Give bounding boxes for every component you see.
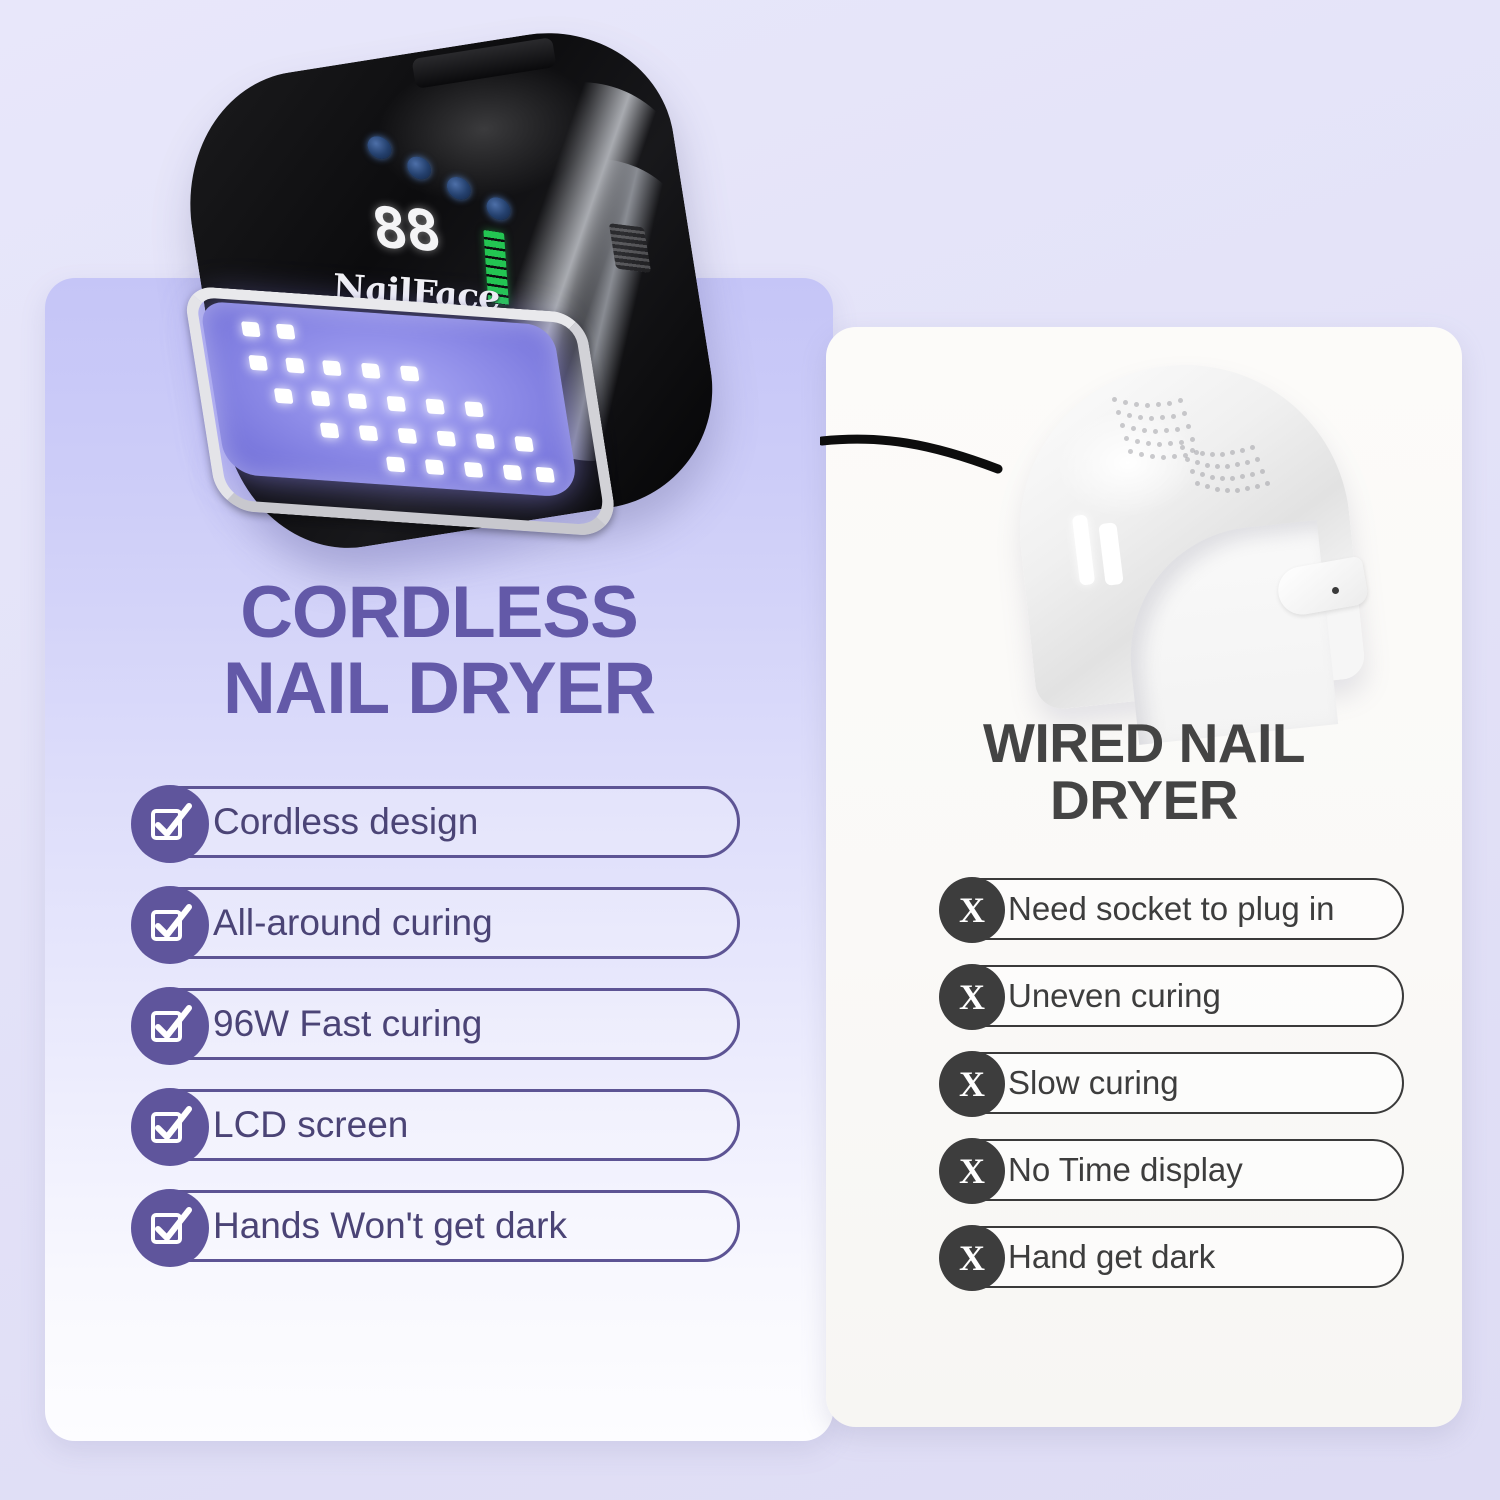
cordless-title-line-2: NAIL DRYER [45,651,833,727]
touch-button-1-icon[interactable] [366,135,393,159]
feature-pill-label: Need socket to plug in [1008,890,1335,928]
perforation-dot [1215,464,1220,469]
perforation-dot [1210,452,1215,457]
perforation-dot [1220,476,1225,481]
perforation-dot [1245,460,1250,465]
feature-pill[interactable]: XHand get dark [940,1226,1404,1288]
perforation-dot [1195,481,1200,486]
feature-pill-label: Hands Won't get dark [213,1205,567,1247]
check-icon [131,886,209,964]
perforation-dot [1124,436,1129,441]
feature-pill-label: 96W Fast curing [213,1003,482,1045]
feature-pill[interactable]: LCD screen [132,1089,740,1161]
perforation-dot [1161,455,1166,460]
feature-pill[interactable]: XUneven curing [940,965,1404,1027]
perforation-dot [1255,484,1260,489]
check-icon [131,1189,209,1267]
perforation-dot [1145,403,1150,408]
perforation-dot [1182,411,1187,416]
feature-pill-label: Slow curing [1008,1064,1179,1102]
wired-title-line-2: DRYER [826,772,1462,829]
perforation-dot [1178,398,1183,403]
perforation-dot [1179,440,1184,445]
cordless-feature-list: Cordless designAll-around curing96W Fast… [132,786,740,1262]
lcd-timer-value: 88 [368,200,443,261]
perforation-dot [1185,457,1190,462]
touch-button-2-icon[interactable] [406,156,433,180]
perforation-dot [1123,400,1128,405]
feature-pill[interactable]: XNeed socket to plug in [940,878,1404,940]
x-icon: X [939,1138,1005,1204]
feature-pill-label: Hand get dark [1008,1238,1215,1276]
perforation-dot [1153,429,1158,434]
feature-pill-label: No Time display [1008,1151,1243,1189]
check-icon [131,785,209,863]
cordless-dryer-chrome-rim [183,285,620,537]
comparison-infographic: 88 NailFace CORDLESS NAIL DRYER WIRED NA… [0,0,1500,1500]
perforation-dot [1190,469,1195,474]
perforation-dot [1255,457,1260,462]
perforation-dot [1210,475,1215,480]
wired-nail-dryer-photo [880,345,1440,725]
check-icon [131,987,209,1065]
perforation-dot [1230,476,1235,481]
perforation-dot [1157,442,1162,447]
feature-pill[interactable]: Cordless design [132,786,740,858]
perforation-dot [1200,451,1205,456]
perforation-dot [1225,488,1230,493]
perforation-dot [1220,452,1225,457]
perforation-dot [1139,452,1144,457]
perforation-dot [1116,410,1121,415]
feature-pill[interactable]: Hands Won't get dark [132,1190,740,1262]
feature-pill-label: Cordless design [213,801,478,843]
feature-pill-label: Uneven curing [1008,977,1221,1015]
touch-button-4-icon[interactable] [485,197,512,221]
perforation-dot [1265,481,1270,486]
perforation-dot [1235,488,1240,493]
perforation-dot [1180,445,1185,450]
cordless-nail-dryer-photo: 88 NailFace [185,40,715,585]
perforation-dot [1149,416,1154,421]
check-icon [131,1088,209,1166]
perforation-dot [1205,463,1210,468]
perforation-dot [1127,413,1132,418]
perforation-dot [1190,437,1195,442]
feature-pill[interactable]: XSlow curing [940,1052,1404,1114]
feature-pill[interactable]: All-around curing [132,887,740,959]
wired-title-line-1: WIRED NAIL [826,715,1462,772]
perforation-dot [1135,439,1140,444]
perforation-dot [1175,427,1180,432]
feature-pill[interactable]: 96W Fast curing [132,988,740,1060]
perforation-dot [1167,401,1172,406]
feature-pill-label: LCD screen [213,1104,408,1146]
perforation-dot [1215,487,1220,492]
x-icon: X [939,964,1005,1030]
x-icon: X [939,1051,1005,1117]
x-icon: X [939,877,1005,943]
perforation-dot [1250,445,1255,450]
perforation-dot [1171,414,1176,419]
feature-pill[interactable]: XNo Time display [940,1139,1404,1201]
wired-dryer-sensor-dot [1332,587,1339,594]
cordless-title-line-1: CORDLESS [45,575,833,651]
perforation-dot [1112,397,1117,402]
perforation-dot [1186,424,1191,429]
touch-button-3-icon[interactable] [445,176,472,200]
perforation-dot [1240,448,1245,453]
cordless-panel-title: CORDLESS NAIL DRYER [45,575,833,727]
perforation-dot [1131,426,1136,431]
x-icon: X [939,1225,1005,1291]
feature-pill-label: All-around curing [213,902,493,944]
wired-panel-title: WIRED NAIL DRYER [826,715,1462,829]
perforation-dot [1225,464,1230,469]
perforation-dot [1128,449,1133,454]
perforation-dot [1120,423,1125,428]
wired-drawback-list: XNeed socket to plug inXUneven curingXSl… [940,878,1404,1288]
perforation-dot [1260,469,1265,474]
perforation-dot [1250,472,1255,477]
